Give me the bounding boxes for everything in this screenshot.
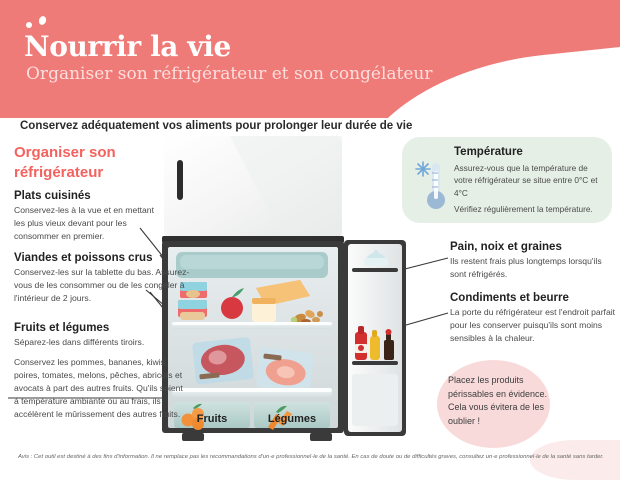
block-heading: Fruits et légumes: [14, 322, 186, 334]
temperature-title: Température: [454, 146, 523, 158]
intro-text: Conservez adéquatement vos aliments pour…: [20, 120, 540, 132]
thermometer-snowflake-icon: [412, 155, 452, 213]
info-block-fruits-legumes: Fruits et légumes Séparez-les dans diffé…: [14, 322, 186, 421]
temperature-footer: Vérifiez régulièrement la température.: [454, 203, 610, 215]
block-body: Conservez-les à la vue et en mettant les…: [14, 204, 166, 243]
block-body: Ils restent frais plus longtemps lorsqu'…: [450, 255, 618, 281]
info-block-pain-noix-graines: Pain, noix et graines Ils restent frais …: [450, 241, 618, 281]
info-block-viandes-poissons: Viandes et poissons crus Conservez-les s…: [14, 252, 194, 305]
info-block-condiments-beurre: Condiments et beurre La porte du réfrigé…: [450, 292, 618, 345]
page-header: Nourrir la vie Organiser son réfrigérate…: [0, 0, 620, 118]
block-body-1: Séparez-les dans différents tiroirs.: [14, 336, 186, 349]
block-heading: Pain, noix et graines: [450, 241, 618, 253]
drawer-legumes-label: Légumes: [268, 413, 316, 425]
header-subtitle: Organiser son réfrigérateur et son congé…: [26, 64, 433, 84]
temperature-body: Assurez-vous que la température de votre…: [454, 162, 606, 199]
infographic-page: Nourrir la vie Organiser son réfrigérate…: [0, 0, 620, 480]
info-block-plats-cuisines: Plats cuisinés Conservez-les à la vue et…: [14, 190, 166, 243]
temperature-card: Température Assurez-vous que la températ…: [402, 137, 612, 223]
drawer-fruits-label: Fruits: [197, 413, 228, 425]
block-heading: Condiments et beurre: [450, 292, 618, 304]
refrigerator-illustration: Fruits Légumes: [160, 136, 410, 444]
block-body-2: Conservez les pommes, bananes, kiwis, po…: [14, 356, 186, 421]
block-body: La porte du réfrigérateur est l'endroit …: [450, 306, 618, 345]
pink-callout-text: Placez les produits périssables en évide…: [448, 374, 552, 429]
section-title: Organiser son réfrigérateur: [14, 143, 164, 184]
brand-title: Nourrir la vie: [24, 30, 231, 63]
block-body: Conservez-les sur la tablette du bas. As…: [14, 266, 194, 305]
footer-disclaimer: Avis : Cet outil est destiné à des fins …: [18, 452, 604, 462]
block-heading: Viandes et poissons crus: [14, 252, 194, 264]
block-heading: Plats cuisinés: [14, 190, 166, 202]
